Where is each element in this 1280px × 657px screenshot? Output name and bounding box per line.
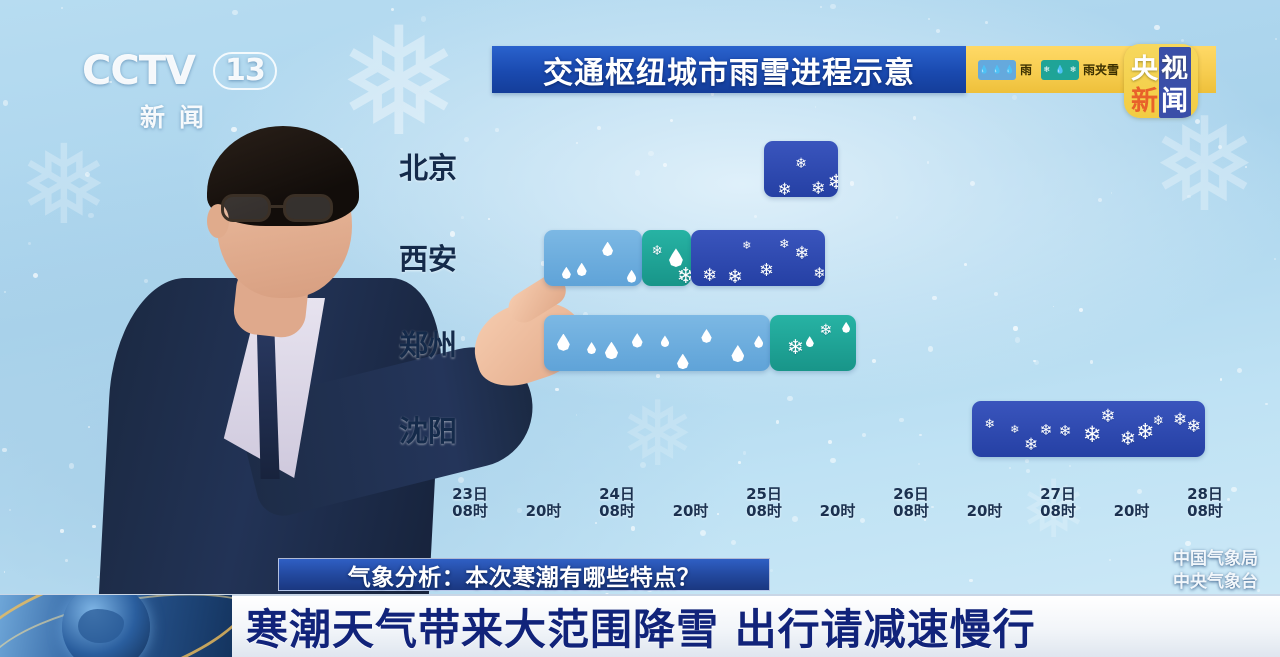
snowflake-icon: ❄ xyxy=(1083,424,1102,446)
raindrop-icon xyxy=(587,342,596,354)
timeline-segment-snow[interactable]: ❄❄❄❄❄❄❄ xyxy=(691,230,826,286)
axis-tick-day: 28日 xyxy=(1160,486,1250,503)
snowflake-icon: ❄ xyxy=(1040,423,1053,438)
snowflake-icon: ❄ xyxy=(702,267,717,285)
snowflake-icon: ❄ xyxy=(1059,424,1072,439)
snowflake-icon: ❄ xyxy=(811,181,826,197)
snowflake-icon: ❄ xyxy=(813,267,825,282)
axis-tick-10: 28日08时 xyxy=(1160,486,1250,520)
raindrop-icon xyxy=(677,354,689,370)
topic-text: 气象分析：本次寒潮有哪些特点？ xyxy=(348,558,701,592)
timeline-row-西安: ❄❄❄❄❄❄❄❄❄ xyxy=(0,230,1280,286)
snowflake-icon: ❄ xyxy=(742,240,751,251)
raindrop-icon xyxy=(577,263,587,276)
snowflake-icon: ❄ xyxy=(1024,436,1038,453)
timeline-segment-sleet[interactable]: ❄❄ xyxy=(770,315,856,371)
snowflake-icon: ❄ xyxy=(1153,415,1164,429)
snowflake-icon: ❄ xyxy=(795,157,807,171)
raindrop-icon xyxy=(806,336,814,347)
timeline-segment-rain[interactable] xyxy=(544,315,771,371)
agency-credit: 中国气象局 中央气象台 xyxy=(1173,548,1258,594)
timeline-row-沈阳: ❄❄❄❄❄❄❄❄❄❄❄❄ xyxy=(0,401,1280,457)
raindrop-icon xyxy=(557,334,570,351)
snowflake-icon: ❄ xyxy=(984,418,995,431)
axis-tick-day: 24日 xyxy=(572,486,662,503)
credit-line-2: 中央气象台 xyxy=(1173,571,1258,594)
topic-banner: 气象分析：本次寒潮有哪些特点？ xyxy=(278,558,770,591)
timeline-segment-snow[interactable]: ❄❄❄❄❄❄❄❄❄❄❄❄ xyxy=(972,401,1205,457)
axis-tick-day: 27日 xyxy=(1013,486,1103,503)
axis-tick-day: 23日 xyxy=(425,486,515,503)
raindrop-icon xyxy=(605,342,618,360)
snowflake-icon: ❄ xyxy=(1010,424,1019,435)
raindrop-icon xyxy=(627,270,637,283)
axis-tick-day: 25日 xyxy=(719,486,809,503)
timeline-segment-snow[interactable]: ❄❄❄❄ xyxy=(764,141,838,197)
timeline-row-郑州: ❄❄ xyxy=(0,315,1280,371)
broadcast-stage: ❅ ❅ ❅ ❅ ❅ CCTV 13 新闻 交通枢纽城市雨雪进程示意 💧💧💧 xyxy=(0,0,1280,657)
raindrop-icon xyxy=(754,335,763,347)
snowflake-icon: ❄ xyxy=(1100,408,1115,426)
raindrop-icon xyxy=(562,267,571,279)
snowflake-icon: ❄ xyxy=(759,262,774,280)
snowflake-icon: ❄ xyxy=(779,238,789,250)
snowflake-icon: ❄ xyxy=(1120,429,1136,448)
timeline-row-北京: ❄❄❄❄ xyxy=(0,141,1280,197)
raindrop-icon xyxy=(731,345,744,362)
axis-tick-hour: 08时 xyxy=(1160,503,1250,520)
snowflake-icon: ❄ xyxy=(652,245,663,259)
snowflake-icon: ❄ xyxy=(778,181,792,197)
snowflake-icon: ❄ xyxy=(794,245,809,263)
snowflake-icon: ❄ xyxy=(827,172,837,193)
snowflake-icon: ❄ xyxy=(787,337,804,357)
snowflake-icon: ❄ xyxy=(1186,419,1201,437)
snowflake-icon: ❄ xyxy=(727,269,743,286)
raindrop-icon xyxy=(602,242,613,257)
raindrop-icon xyxy=(661,335,670,347)
timeline-segment-sleet[interactable]: ❄❄ xyxy=(642,230,691,286)
news-ticker: 寒潮天气带来大范围降雪 出行请减速慢行 xyxy=(0,594,1280,657)
headline-text: 寒潮天气带来大范围降雪 出行请减速慢行 xyxy=(232,596,1280,657)
axis-tick-day: 26日 xyxy=(866,486,956,503)
raindrop-icon xyxy=(632,333,643,348)
credit-line-1: 中国气象局 xyxy=(1173,548,1258,571)
globe-icon xyxy=(0,595,232,657)
timeline-segment-rain[interactable] xyxy=(544,230,642,286)
time-axis: 23日08时20时24日08时20时25日08时20时26日08时20时27日0… xyxy=(0,486,1280,530)
snowflake-icon: ❄ xyxy=(677,266,691,286)
raindrop-icon xyxy=(842,322,850,333)
raindrop-icon xyxy=(701,329,711,343)
snowflake-icon: ❄ xyxy=(819,323,832,338)
